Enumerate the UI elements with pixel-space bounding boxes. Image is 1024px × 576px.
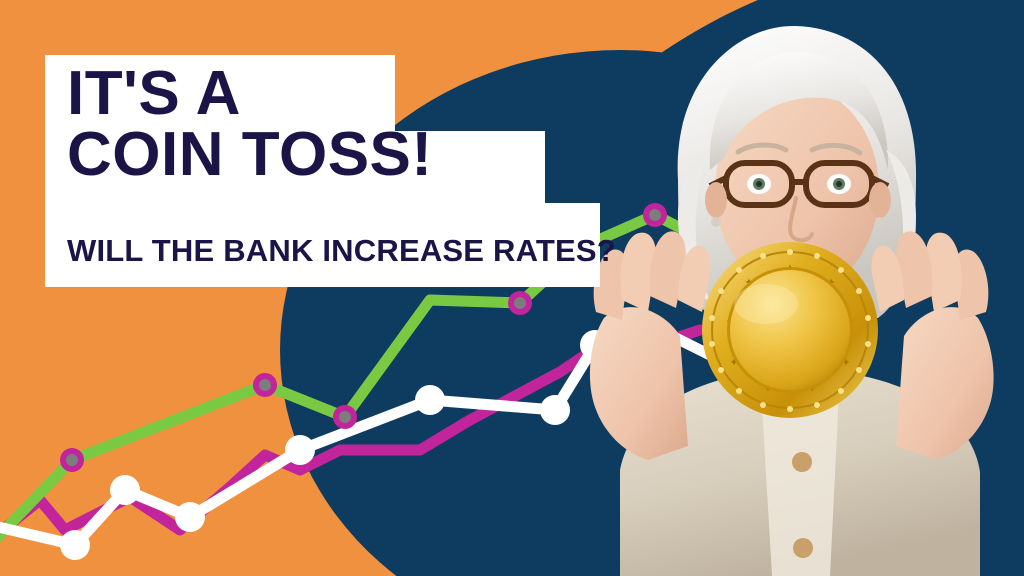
chart-marker xyxy=(415,385,445,415)
headline-text-group: IT'S A COIN TOSS! xyxy=(67,65,587,185)
chart-markers-white-line xyxy=(60,330,610,560)
headline-line-1: IT'S A xyxy=(67,65,587,124)
chart-marker-core xyxy=(259,379,271,391)
poster-canvas: ✦✦✦ ✦✦✦ ✦✦✦ IT'S A COIN TOSS! WILL THE B… xyxy=(0,0,1024,576)
chart-marker xyxy=(60,530,90,560)
cardigan-button xyxy=(793,538,813,558)
ear-right xyxy=(869,182,891,218)
headline-line-2: COIN TOSS! xyxy=(67,126,587,185)
ear-left xyxy=(705,182,727,218)
chart-marker-core xyxy=(514,297,526,309)
chart-marker-core xyxy=(339,411,351,423)
chart-marker xyxy=(175,502,205,532)
chart-marker-core xyxy=(66,454,78,466)
coin-highlight xyxy=(734,284,798,324)
earring xyxy=(711,217,721,227)
chart-marker xyxy=(110,475,140,505)
chart-marker xyxy=(285,435,315,465)
headline-card: IT'S A COIN TOSS! WILL THE BANK INCREASE… xyxy=(45,55,600,287)
headline-subtitle: WILL THE BANK INCREASE RATES? xyxy=(67,233,627,269)
earring xyxy=(875,217,885,227)
gold-coin: ✦✦✦ ✦✦✦ ✦✦✦ xyxy=(700,240,880,420)
cardigan-button xyxy=(792,452,812,472)
